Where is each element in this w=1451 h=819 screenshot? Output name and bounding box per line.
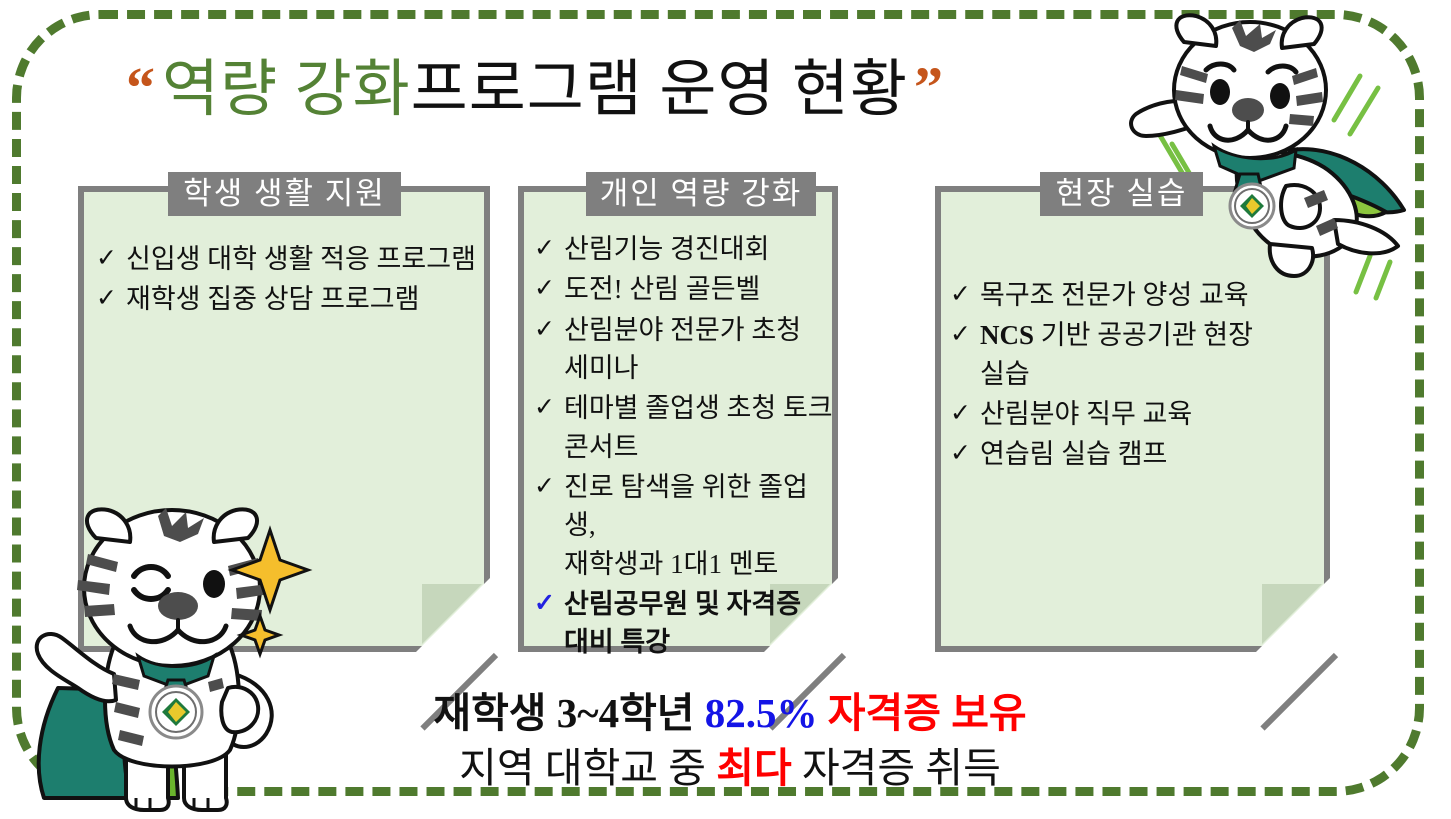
list-item-label: 신입생 대학 생활 적응 프로그램 xyxy=(126,240,478,278)
card-fold-triangle xyxy=(1262,584,1322,644)
card-fold-edge xyxy=(1260,653,1338,731)
bottom-line2-part2: 자격증 취득 xyxy=(792,745,1001,791)
list-item: ✓ 산림기능 경진대회 xyxy=(534,230,834,268)
bottom-line1-part2: 자격증 보유 xyxy=(818,690,1027,736)
item-list-personal-competency: ✓ 산림기능 경진대회 ✓ 도전! 산림 골든벨 ✓ 산림분야 전문가 초청 세… xyxy=(534,230,834,662)
list-item-highlighted: ✓ 산림공무원 및 자격증 대비 특강 xyxy=(534,585,834,662)
list-item-label: 진로 탐색을 위한 졸업생, 재학생과 1대1 멘토 xyxy=(564,468,834,583)
list-item: ✓ 진로 탐색을 위한 졸업생, 재학생과 1대1 멘토 xyxy=(534,468,834,583)
list-item: ✓ 도전! 산림 골든벨 xyxy=(534,270,834,308)
check-icon: ✓ xyxy=(534,468,564,505)
bottom-line2-emphasis: 최다 xyxy=(716,745,791,791)
list-item-label: 도전! 산림 골든벨 xyxy=(564,270,834,308)
quote-close-mark: ” xyxy=(908,55,950,120)
check-icon: ✓ xyxy=(534,270,564,307)
white-tiger-mascot-standing xyxy=(18,498,318,814)
quote-open-mark: “ xyxy=(120,55,162,120)
check-icon: ✓ xyxy=(534,389,564,426)
list-item-label: 산림분야 전문가 초청 세미나 xyxy=(564,311,834,388)
list-item: ✓ 신입생 대학 생활 적응 프로그램 xyxy=(96,240,478,278)
check-icon: ✓ xyxy=(950,395,980,432)
page-title: “역량 강화프로그램 운영 현황” xyxy=(120,42,1180,138)
poster-canvas: “역량 강화프로그램 운영 현황” 학생 생활 지원 ✓ 신입생 대학 생활 적… xyxy=(0,0,1451,814)
list-item-label: 산림분야 직무 교육 xyxy=(980,395,1322,433)
badge xyxy=(1230,184,1274,228)
list-item-label: 목구조 전문가 양성 교육 xyxy=(980,276,1322,314)
list-item: ✓ 목구조 전문가 양성 교육 xyxy=(950,276,1322,314)
title-rest-text: 프로그램 운영 현황 xyxy=(411,56,908,124)
card-body-personal-competency: ✓ 산림기능 경진대회 ✓ 도전! 산림 골든벨 ✓ 산림분야 전문가 초청 세… xyxy=(534,230,834,664)
list-item-label: 산림공무원 및 자격증 대비 특강 xyxy=(564,585,834,662)
bottom-statement: 재학생 3~4학년 82.5% 자격증 보유 지역 대학교 중 최다 자격증 취… xyxy=(250,686,1210,795)
list-item: ✓ 연습림 실습 캠프 xyxy=(950,435,1322,473)
item-list-student-life-support: ✓ 신입생 대학 생활 적응 프로그램 ✓ 재학생 집중 상담 프로그램 xyxy=(96,240,478,319)
list-item: ✓ 산림분야 직무 교육 xyxy=(950,395,1322,433)
title-highlight-text: 역량 강화 xyxy=(162,56,411,124)
card-body-student-life-support: ✓ 신입생 대학 생활 적응 프로그램 ✓ 재학생 집중 상담 프로그램 xyxy=(96,240,478,321)
white-tiger-mascot-flying xyxy=(1128,4,1451,304)
bottom-line1-percent: 82.5% xyxy=(705,690,818,736)
bottom-line2-part1: 지역 대학교 중 xyxy=(459,745,716,791)
check-icon: ✓ xyxy=(96,240,126,277)
list-item: ✓ NCS 기반 공공기관 현장 실습 xyxy=(950,316,1322,393)
list-item: ✓ 재학생 집중 상담 프로그램 xyxy=(96,280,478,318)
list-item: ✓ 테마별 졸업생 초청 토크 콘서트 xyxy=(534,389,834,466)
check-icon: ✓ xyxy=(950,435,980,472)
item-list-field-practice: ✓ 목구조 전문가 양성 교육 ✓ NCS 기반 공공기관 현장 실습 ✓ 산림… xyxy=(950,276,1322,474)
bottom-statement-line-2: 지역 대학교 중 최다 자격증 취득 xyxy=(250,741,1210,796)
list-item: ✓ 산림분야 전문가 초청 세미나 xyxy=(534,311,834,388)
list-item-label: NCS 기반 공공기관 현장 실습 xyxy=(980,316,1322,393)
check-icon: ✓ xyxy=(534,230,564,267)
card-header-student-life-support: 학생 생활 지원 xyxy=(168,172,401,216)
check-icon: ✓ xyxy=(534,311,564,348)
card-fold-triangle xyxy=(422,584,482,644)
card-header-field-practice: 현장 실습 xyxy=(1040,172,1203,216)
ncs-abbreviation: NCS xyxy=(980,320,1034,350)
card-body-field-practice: ✓ 목구조 전문가 양성 교육 ✓ NCS 기반 공공기관 현장 실습 ✓ 산림… xyxy=(950,276,1322,476)
badge xyxy=(150,686,202,738)
bottom-line1-part1: 재학생 3~4학년 xyxy=(433,690,704,736)
list-item-label: 산림기능 경진대회 xyxy=(564,230,834,268)
check-icon: ✓ xyxy=(950,276,980,313)
bottom-statement-line-1: 재학생 3~4학년 82.5% 자격증 보유 xyxy=(250,686,1210,741)
check-icon: ✓ xyxy=(950,316,980,353)
list-item-label: 테마별 졸업생 초청 토크 콘서트 xyxy=(564,389,834,466)
card-header-personal-competency: 개인 역량 강화 xyxy=(586,172,816,216)
check-icon: ✓ xyxy=(96,280,126,317)
list-item-label: 연습림 실습 캠프 xyxy=(980,435,1322,473)
list-item-label: 재학생 집중 상담 프로그램 xyxy=(126,280,478,318)
check-icon: ✓ xyxy=(534,585,564,622)
